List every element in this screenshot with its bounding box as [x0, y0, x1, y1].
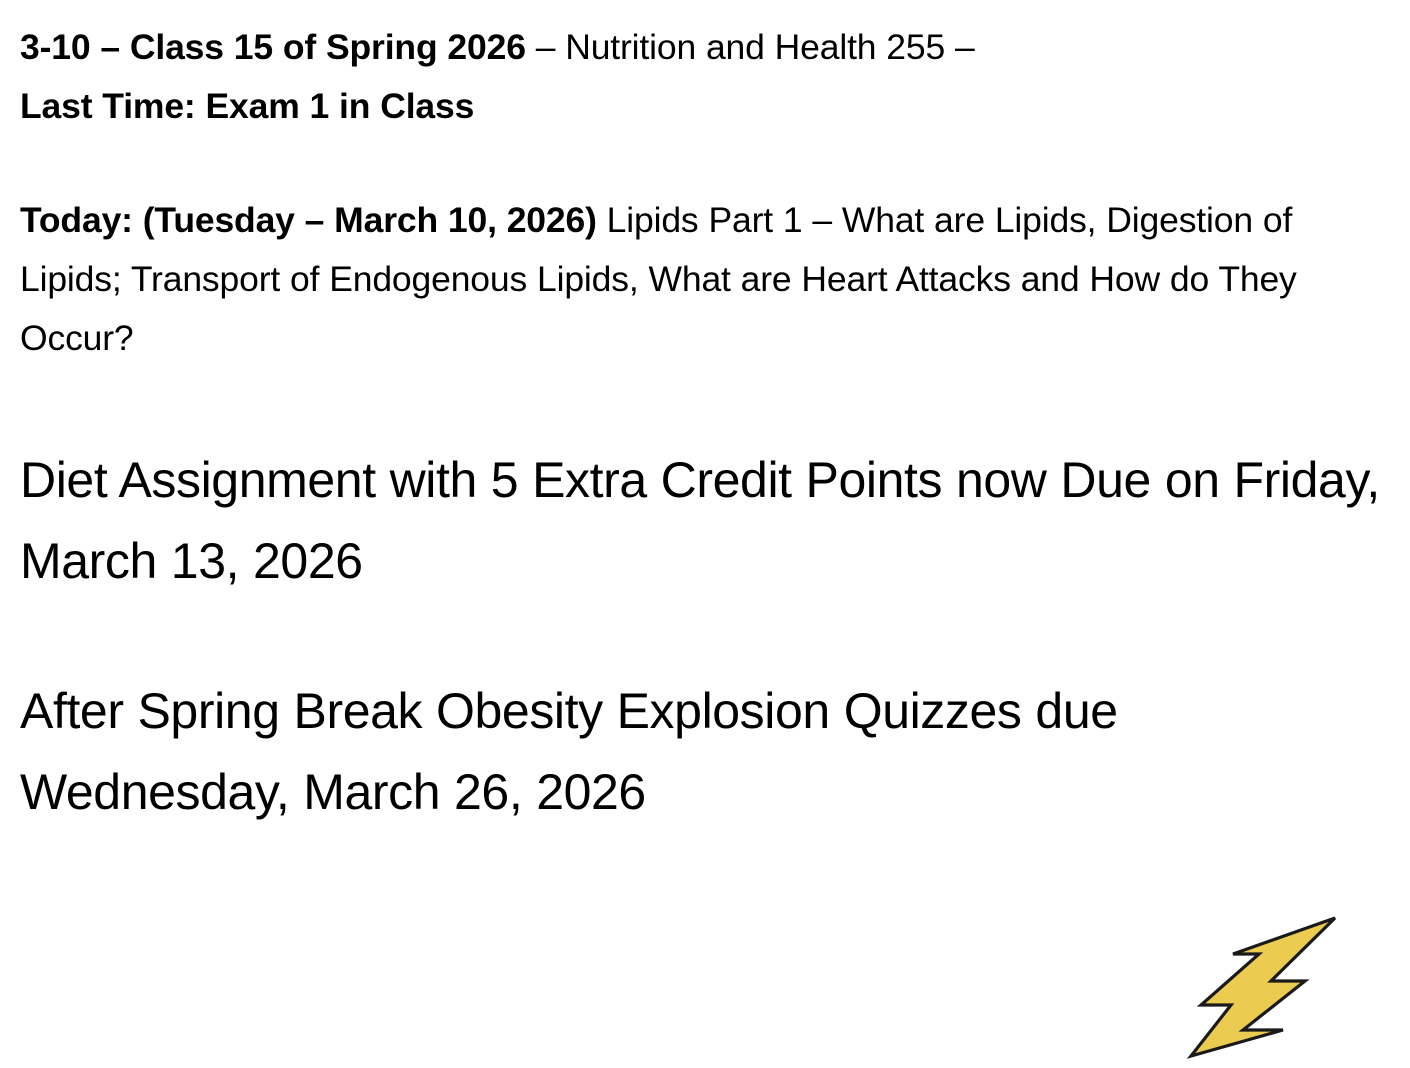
class-header-course-label: – Nutrition and Health 255 –	[526, 27, 975, 67]
today-topics-paragraph: Today: (Tuesday – March 10, 2026) Lipids…	[20, 191, 1398, 368]
class-header-bold-lead: 3-10 – Class 15 of Spring 2026	[20, 27, 526, 67]
today-date-label: Today: (Tuesday – March 10, 2026)	[20, 200, 597, 240]
last-time-label: Last Time: Exam 1 in Class	[20, 86, 474, 126]
obesity-quizzes-announcement: After Spring Break Obesity Explosion Qui…	[20, 671, 1398, 834]
spacer-before-diet-assignment	[20, 368, 1398, 440]
slide-canvas: 3-10 – Class 15 of Spring 2026 – Nutriti…	[0, 0, 1410, 1068]
lightning-bolt-icon	[1183, 908, 1348, 1060]
spacer-before-obesity-quizzes	[20, 603, 1398, 671]
spacer-after-header	[20, 136, 1398, 191]
class-header-paragraph: 3-10 – Class 15 of Spring 2026 – Nutriti…	[20, 18, 1398, 136]
slide-text-content: 3-10 – Class 15 of Spring 2026 – Nutriti…	[20, 18, 1398, 834]
diet-assignment-announcement: Diet Assignment with 5 Extra Credit Poin…	[20, 440, 1398, 603]
